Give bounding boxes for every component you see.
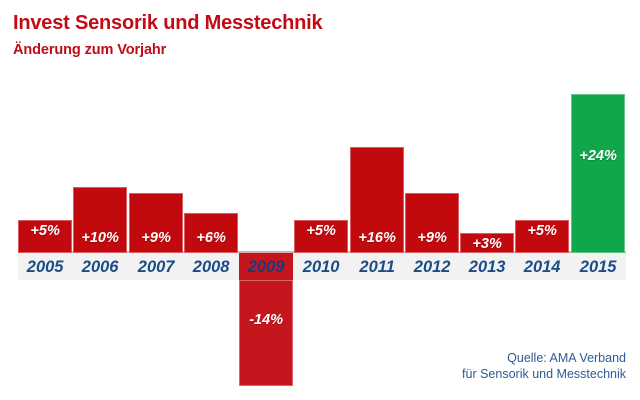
bar-column-2008: +6% <box>184 46 238 378</box>
x-axis-label-2011[interactable]: 2011 <box>350 253 404 280</box>
bar-column-2015: +24% <box>571 46 625 378</box>
bar-value-label-2009: -14% <box>240 312 292 328</box>
bar-value-label-2006: +10% <box>74 230 126 246</box>
x-axis-label-2007[interactable]: 2007 <box>129 253 183 280</box>
chart-container: Invest Sensorik und Messtechnik Änderung… <box>0 0 640 400</box>
bar-column-2009: -14% <box>239 46 293 378</box>
bar-column-2011: +16% <box>350 46 404 378</box>
x-axis-label-2006[interactable]: 2006 <box>73 253 127 280</box>
bar-value-label-2012: +9% <box>406 230 458 246</box>
bar-2009[interactable]: -14% <box>239 280 293 386</box>
bar-value-label-2014: +5% <box>516 223 568 239</box>
bar-2005[interactable]: +5% <box>18 220 72 253</box>
bar-2013[interactable]: +3% <box>460 233 514 253</box>
x-axis-label-2005[interactable]: 2005 <box>18 253 72 280</box>
source-line-2: für Sensorik und Messtechnik <box>462 366 626 382</box>
x-axis-label-2009[interactable]: 2009 <box>239 253 293 280</box>
bar-2014[interactable]: +5% <box>515 220 569 253</box>
source-note: Quelle: AMA Verband für Sensorik und Mes… <box>462 350 626 382</box>
bar-2007[interactable]: +9% <box>129 193 183 253</box>
bar-2015[interactable]: +24% <box>571 94 625 253</box>
bar-column-2005: +5% <box>18 46 72 378</box>
source-line-1: Quelle: AMA Verband <box>462 350 626 366</box>
bar-2010[interactable]: +5% <box>294 220 348 253</box>
page-title: Invest Sensorik und Messtechnik <box>13 12 322 35</box>
x-axis-label-2008[interactable]: 2008 <box>184 253 238 280</box>
bar-value-label-2013: +3% <box>461 236 513 252</box>
x-axis-label-2012[interactable]: 2012 <box>405 253 459 280</box>
bar-2012[interactable]: +9% <box>405 193 459 253</box>
bar-column-2014: +5% <box>515 46 569 378</box>
bar-2011[interactable]: +16% <box>350 147 404 253</box>
bar-value-label-2008: +6% <box>185 230 237 246</box>
bar-column-2007: +9% <box>129 46 183 378</box>
bar-value-label-2005: +5% <box>19 223 71 239</box>
bar-value-label-2010: +5% <box>295 223 347 239</box>
bar-column-2013: +3% <box>460 46 514 378</box>
x-axis-label-2010[interactable]: 2010 <box>294 253 348 280</box>
x-axis-label-2015[interactable]: 2015 <box>571 253 625 280</box>
bar-2008[interactable]: +6% <box>184 213 238 253</box>
bar-column-2010: +5% <box>294 46 348 378</box>
plot-area: +5%+10%+9%+6%-14%+5%+16%+9%+3%+5%+24% 20… <box>18 46 626 378</box>
x-axis-label-2013[interactable]: 2013 <box>460 253 514 280</box>
bar-value-label-2007: +9% <box>130 230 182 246</box>
bar-column-2006: +10% <box>73 46 127 378</box>
x-axis-label-2014[interactable]: 2014 <box>515 253 569 280</box>
bar-value-label-2011: +16% <box>351 230 403 246</box>
bar-column-2012: +9% <box>405 46 459 378</box>
bar-value-label-2015: +24% <box>572 148 624 164</box>
bar-2006[interactable]: +10% <box>73 187 127 253</box>
